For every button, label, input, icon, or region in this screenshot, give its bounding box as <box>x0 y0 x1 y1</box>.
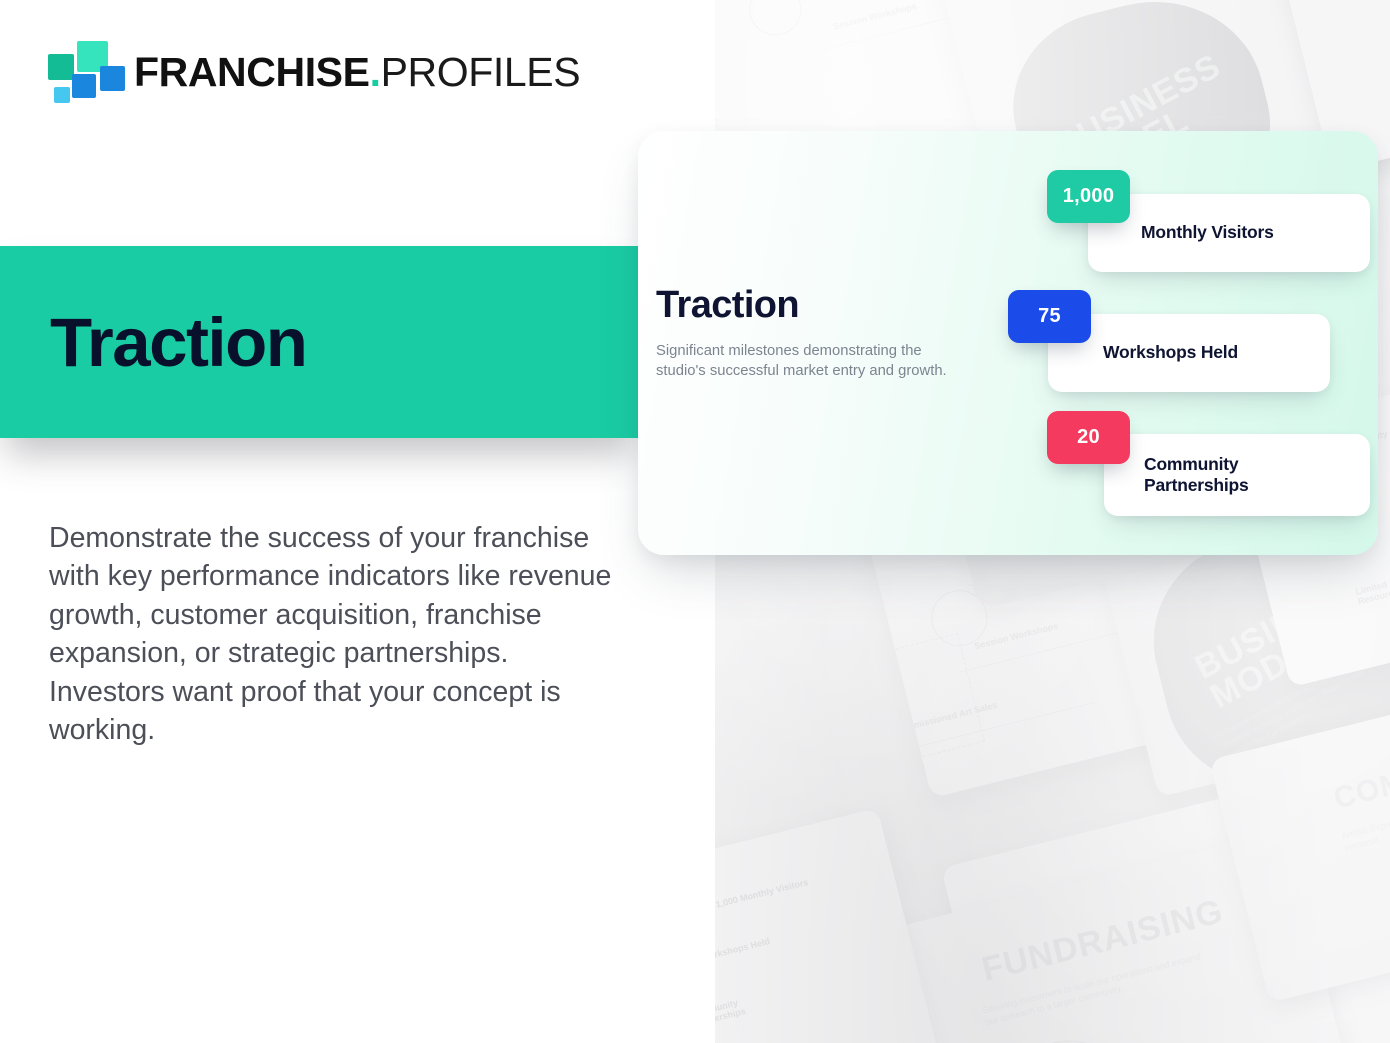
background-mockup-label: Session Workshops <box>832 1 918 31</box>
background-mockup-label: Limited Resources <box>1355 570 1390 607</box>
metric-label: Community Partnerships <box>1144 454 1249 497</box>
background-mockup-title: COM <box>1330 766 1390 817</box>
logo-wordmark: FRANCHISE.PROFILES <box>134 52 580 93</box>
logo-word-profiles: PROFILES <box>381 49 581 95</box>
logo-square-teal-dark <box>48 54 74 80</box>
logo-dot: . <box>370 49 381 95</box>
metric-value: 75 <box>1038 305 1061 328</box>
section-description: Demonstrate the success of your franchis… <box>49 519 624 750</box>
metric-value: 20 <box>1077 426 1100 449</box>
card-text-block: Traction Significant milestones demonstr… <box>656 286 976 381</box>
metric-badge-workshops-held: 75 <box>1008 290 1091 343</box>
metric-card: Community Partnerships <box>1104 434 1370 516</box>
background-mockup-label: 1,000 Monthly Visitors <box>715 877 809 910</box>
background-mockup-label: 75 Workshops Held <box>715 936 771 966</box>
page-title: Traction <box>50 308 306 377</box>
metric-badge-monthly-visitors: 1,000 <box>1047 170 1130 223</box>
background-mockup-label: Community Partnerships <box>715 993 761 1029</box>
metric-card: Monthly Visitors <box>1088 194 1370 272</box>
metric-label: Workshops Held <box>1103 342 1238 363</box>
logo-squares-icon <box>48 41 112 103</box>
slide-preview-card: Traction Significant milestones demonstr… <box>638 131 1378 555</box>
metric-label: Monthly Visitors <box>1141 222 1274 243</box>
card-title: Traction <box>656 286 976 324</box>
logo-square-blue <box>100 66 125 91</box>
card-description: Significant milestones demonstrating the… <box>656 342 956 381</box>
logo-word-franchise: FRANCHISE <box>134 49 370 95</box>
slide-canvas: Drop-In Fees Session Workshops Commissio… <box>0 0 1390 1043</box>
brand-logo[interactable]: FRANCHISE.PROFILES <box>48 41 580 103</box>
logo-square-blue-small <box>72 74 96 98</box>
metric-badge-community-partnerships: 20 <box>1047 411 1130 464</box>
section-banner: Traction <box>0 246 638 438</box>
logo-square-cyan <box>54 87 70 103</box>
metric-value: 1,000 <box>1063 185 1115 208</box>
